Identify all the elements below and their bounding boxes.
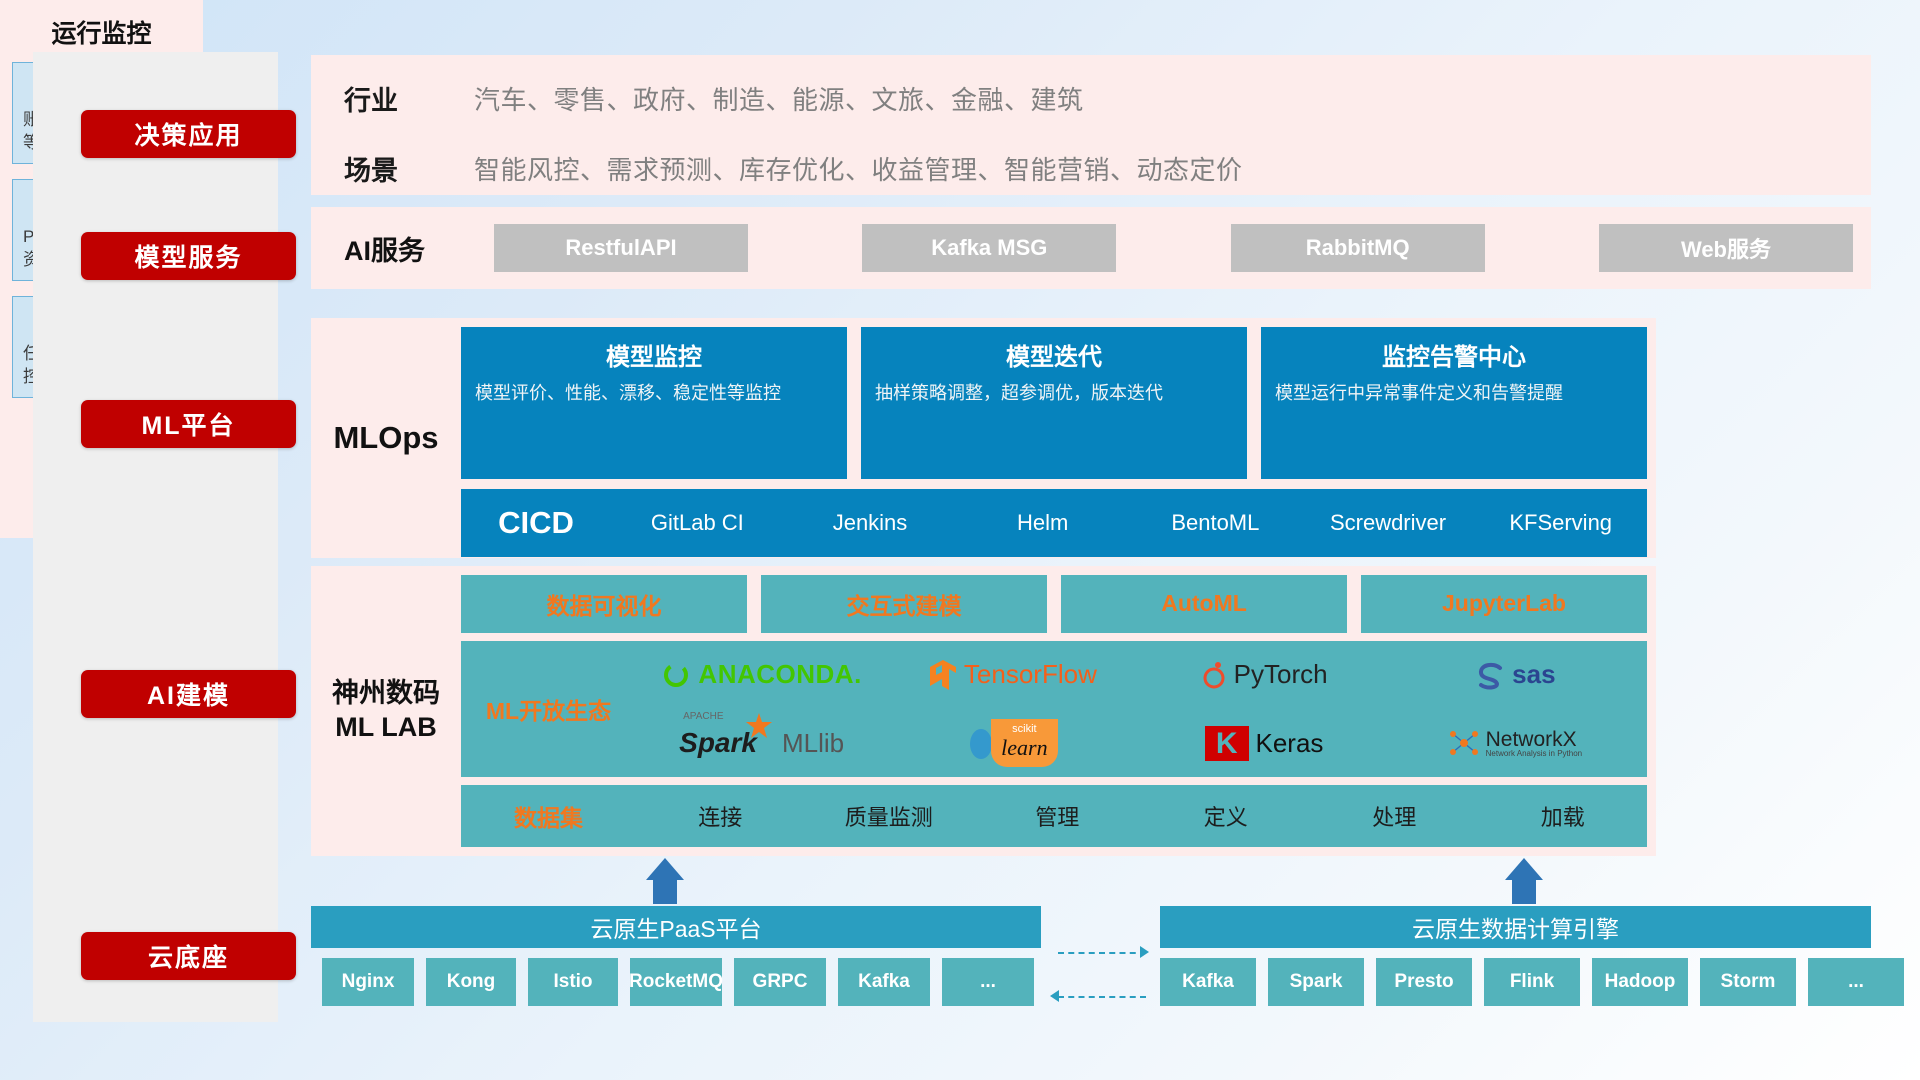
chip-label: Web服务 <box>1681 232 1771 264</box>
tool-data-visualization[interactable]: 数据可视化 <box>461 575 747 633</box>
compute-chip-kafka[interactable]: Kafka <box>1160 958 1256 1006</box>
paas-chip-rocketmq[interactable]: RocketMQ <box>630 958 722 1006</box>
paas-chip-grpc[interactable]: GRPC <box>734 958 826 1006</box>
dataset-item-connect[interactable]: 连接 <box>636 800 805 832</box>
data-compute-engine-label: 云原生数据计算引擎 <box>1412 910 1619 944</box>
compute-chip-more[interactable]: ... <box>1808 958 1904 1006</box>
mlops-label: MLOps <box>311 318 461 558</box>
anaconda-logo: ANACONDA. <box>661 659 861 690</box>
diagram-canvas: 决策应用 模型服务 ML平台 AI建模 云底座 行业 汽车、零售、政府、制造、能… <box>0 0 1920 1080</box>
rail-tag-label: 云底座 <box>148 938 229 974</box>
dataset-item-define[interactable]: 定义 <box>1142 800 1311 832</box>
cicd-label: CICD <box>461 505 611 541</box>
rail-tag-label: AI建模 <box>147 676 230 712</box>
compute-chip-list: Kafka Spark Presto Flink Hadoop Storm ..… <box>1160 958 1904 1006</box>
dataset-row: 数据集 连接 质量监测 管理 定义 处理 加载 <box>461 785 1647 847</box>
ai-service-chip-list: RestfulAPI Kafka MSG RabbitMQ Web服务 <box>494 224 1871 272</box>
card-desc: 模型评价、性能、漂移、稳定性等监控 <box>475 381 833 405</box>
rail-tag-label: 决策应用 <box>134 116 242 152</box>
scenario-value: 智能风控、需求预测、库存优化、收益管理、智能营销、动态定价 <box>474 150 1243 187</box>
mlops-card-alert-center[interactable]: 监控告警中心 模型运行中异常事件定义和告警提醒 <box>1261 327 1647 479</box>
pytorch-flame-icon <box>1201 660 1227 690</box>
industry-label: 行业 <box>344 79 474 118</box>
tensorflow-logo: TensorFlow <box>929 659 1097 691</box>
ml-lab-label-line1: 神州数码 <box>332 677 440 711</box>
paas-platform-bar[interactable]: 云原生PaaS平台 <box>311 906 1041 948</box>
rail-tag-ai-modeling[interactable]: AI建模 <box>81 670 296 718</box>
spark-mllib-logo: APACHE Spark MLlib <box>679 727 844 759</box>
scenario-label: 场景 <box>344 149 474 188</box>
ml-ecosystem-label: ML开放生态 <box>461 692 636 726</box>
card-desc: 抽样策略调整，超参调优，版本迭代 <box>875 381 1233 405</box>
cicd-item-helm[interactable]: Helm <box>956 509 1129 537</box>
keras-logo: K Keras <box>1205 726 1324 762</box>
rail-tag-ml-platform[interactable]: ML平台 <box>81 400 296 448</box>
pytorch-logo: PyTorch <box>1201 659 1328 690</box>
scikit-learn-logo: scikit learn <box>968 719 1057 767</box>
pytorch-wordmark: PyTorch <box>1234 659 1328 690</box>
rail-tag-label: 模型服务 <box>134 238 242 274</box>
cicd-item-list: GitLab CI Jenkins Helm BentoML Screwdriv… <box>611 509 1647 537</box>
mlops-card-model-iteration[interactable]: 模型迭代 抽样策略调整，超参调优，版本迭代 <box>861 327 1247 479</box>
card-title: 监控告警中心 <box>1275 337 1633 372</box>
compute-chip-flink[interactable]: Flink <box>1484 958 1580 1006</box>
cicd-item-jenkins[interactable]: Jenkins <box>784 509 957 537</box>
cicd-item-screwdriver[interactable]: Screwdriver <box>1302 509 1475 537</box>
ai-service-chip-rabbitmq[interactable]: RabbitMQ <box>1231 224 1485 272</box>
compute-chip-hadoop[interactable]: Hadoop <box>1592 958 1688 1006</box>
apache-superscript: APACHE <box>683 711 723 722</box>
ml-lab-content: 数据可视化 交互式建模 AutoML JupyterLab ML开放生态 ANA… <box>461 566 1656 856</box>
networkx-logo: NetworkX Network Analysis in Python <box>1449 728 1583 758</box>
rail-tag-model-service[interactable]: 模型服务 <box>81 232 296 280</box>
mlops-band: MLOps 模型监控 模型评价、性能、漂移、稳定性等监控 模型迭代 抽样策略调整… <box>311 318 1656 558</box>
compute-chip-spark[interactable]: Spark <box>1268 958 1364 1006</box>
card-desc: 模型运行中异常事件定义和告警提醒 <box>1275 381 1633 405</box>
ai-service-band: AI服务 RestfulAPI Kafka MSG RabbitMQ Web服务 <box>311 207 1871 289</box>
tool-jupyterlab[interactable]: JupyterLab <box>1361 575 1647 633</box>
card-title: 模型监控 <box>475 337 833 372</box>
tool-automl[interactable]: AutoML <box>1061 575 1347 633</box>
ml-lab-label-line2: ML LAB <box>335 711 437 745</box>
ml-ecosystem-row: ML开放生态 ANACONDA. TensorFlow <box>461 641 1647 778</box>
industry-row: 行业 汽车、零售、政府、制造、能源、文旅、金融、建筑 <box>311 63 1871 133</box>
mlops-card-list: 模型监控 模型评价、性能、漂移、稳定性等监控 模型迭代 抽样策略调整，超参调优，… <box>461 327 1647 479</box>
rail-tag-cloud-base[interactable]: 云底座 <box>81 932 296 980</box>
ml-lab-tool-list: 数据可视化 交互式建模 AutoML JupyterLab <box>461 575 1647 633</box>
cicd-row: CICD GitLab CI Jenkins Helm BentoML Scre… <box>461 489 1647 557</box>
dataset-item-manage[interactable]: 管理 <box>973 800 1142 832</box>
mlops-card-model-monitoring[interactable]: 模型监控 模型评价、性能、漂移、稳定性等监控 <box>461 327 847 479</box>
chip-label: RestfulAPI <box>565 235 676 261</box>
networkx-tagline: Network Analysis in Python <box>1486 750 1583 758</box>
networkx-wordmark: NetworkX <box>1486 729 1583 750</box>
keras-wordmark: Keras <box>1256 728 1324 759</box>
dataset-item-load[interactable]: 加载 <box>1479 800 1648 832</box>
ai-service-chip-kafka-msg[interactable]: Kafka MSG <box>862 224 1116 272</box>
ml-lab-band: 神州数码 ML LAB 数据可视化 交互式建模 AutoML JupyterLa… <box>311 566 1656 856</box>
ai-service-chip-restfulapi[interactable]: RestfulAPI <box>494 224 748 272</box>
compute-chip-storm[interactable]: Storm <box>1700 958 1796 1006</box>
compute-chip-presto[interactable]: Presto <box>1376 958 1472 1006</box>
sas-wordmark: sas <box>1512 659 1555 690</box>
sas-logo: sas <box>1475 659 1555 690</box>
paas-chip-more[interactable]: ... <box>942 958 1034 1006</box>
decision-application-band: 行业 汽车、零售、政府、制造、能源、文旅、金融、建筑 场景 智能风控、需求预测、… <box>311 55 1871 195</box>
tensorflow-mark-icon <box>929 659 957 691</box>
dataset-item-quality[interactable]: 质量监测 <box>805 800 974 832</box>
data-compute-engine-bar[interactable]: 云原生数据计算引擎 <box>1160 906 1871 948</box>
dataset-label: 数据集 <box>461 799 636 833</box>
scenario-row: 场景 智能风控、需求预测、库存优化、收益管理、智能营销、动态定价 <box>311 133 1871 203</box>
keras-mark-icon: K <box>1205 726 1249 762</box>
tensorflow-wordmark: TensorFlow <box>964 659 1097 690</box>
tool-interactive-modeling[interactable]: 交互式建模 <box>761 575 1047 633</box>
dataset-item-list: 连接 质量监测 管理 定义 处理 加载 <box>636 800 1647 832</box>
scikit-wordmark: scikit <box>1001 723 1047 735</box>
paas-chip-nginx[interactable]: Nginx <box>322 958 414 1006</box>
rail-tag-label: ML平台 <box>141 406 235 442</box>
anaconda-wordmark: ANACONDA. <box>698 659 861 690</box>
paas-chip-kong[interactable]: Kong <box>426 958 516 1006</box>
ml-ecosystem-logo-grid: ANACONDA. TensorFlow PyTorch <box>636 641 1647 778</box>
paas-platform-label: 云原生PaaS平台 <box>590 910 761 944</box>
paas-chip-istio[interactable]: Istio <box>528 958 618 1006</box>
ai-service-chip-web-service[interactable]: Web服务 <box>1599 224 1853 272</box>
chip-label: RabbitMQ <box>1306 235 1410 261</box>
anaconda-ring-icon <box>661 660 691 690</box>
chip-label: Kafka MSG <box>931 235 1047 261</box>
paas-chip-list: Nginx Kong Istio RocketMQ GRPC Kafka ... <box>322 958 1034 1006</box>
spark-star-icon <box>746 713 772 739</box>
networkx-graph-icon <box>1449 728 1479 758</box>
rail-tag-decision[interactable]: 决策应用 <box>81 110 296 158</box>
industry-value: 汽车、零售、政府、制造、能源、文旅、金融、建筑 <box>474 80 1084 117</box>
paas-chip-kafka[interactable]: Kafka <box>838 958 930 1006</box>
card-title: 模型迭代 <box>875 337 1233 372</box>
mlops-content: 模型监控 模型评价、性能、漂移、稳定性等监控 模型迭代 抽样策略调整，超参调优，… <box>461 318 1656 558</box>
mllib-wordmark: MLlib <box>782 728 844 759</box>
sas-swirl-icon <box>1475 660 1505 690</box>
cicd-item-bentoml[interactable]: BentoML <box>1129 509 1302 537</box>
ml-lab-label: 神州数码 ML LAB <box>311 566 461 856</box>
ai-service-label: AI服务 <box>344 229 494 268</box>
cicd-item-kfserving[interactable]: KFServing <box>1474 509 1647 537</box>
learn-wordmark: learn <box>1001 735 1047 761</box>
cicd-item-gitlab-ci[interactable]: GitLab CI <box>611 509 784 537</box>
layer-rail: 决策应用 模型服务 ML平台 AI建模 云底座 <box>33 52 278 1022</box>
dataset-item-process[interactable]: 处理 <box>1310 800 1479 832</box>
